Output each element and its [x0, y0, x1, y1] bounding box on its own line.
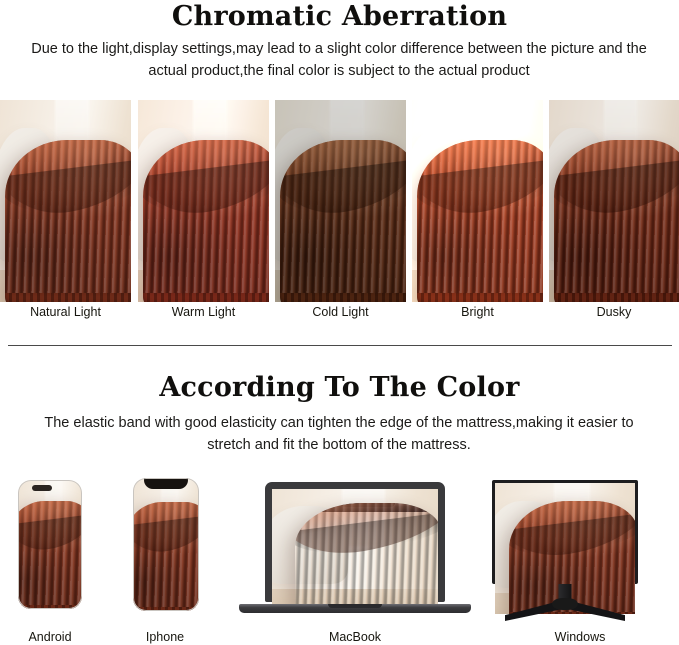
blanket-photo	[0, 100, 131, 302]
monitor-stand	[505, 600, 625, 622]
device-label-macbook: MacBook	[295, 630, 415, 644]
product-photo-warm-light	[138, 100, 269, 302]
product-photo-bright	[412, 100, 543, 302]
chromatic-subtitle: Due to the light,display settings,may le…	[29, 38, 649, 82]
product-photo-cold-light	[275, 100, 406, 302]
device-mockup-row	[0, 470, 679, 620]
variant-label-cold-light: Cold Light	[275, 305, 406, 319]
macbook-mockup	[265, 482, 445, 616]
product-photo-dusky	[549, 100, 679, 302]
macbook-screen	[272, 489, 438, 608]
color-section-title: According To The Color	[0, 372, 679, 403]
variant-label-dusky: Dusky	[549, 305, 679, 319]
macbook-base	[239, 604, 471, 613]
iphone-notch-icon	[144, 478, 188, 489]
chromatic-title: Chromatic Aberration	[0, 1, 679, 32]
iphone-screen	[133, 478, 199, 611]
device-labels: Android Iphone MacBook Windows	[0, 630, 679, 645]
android-camera-cutout-icon	[32, 485, 52, 491]
photo-blanket	[5, 140, 131, 302]
blanket-photo	[275, 100, 406, 302]
color-variant-labels: Natural Light Warm Light Cold Light Brig…	[0, 305, 679, 327]
device-label-windows: Windows	[525, 630, 635, 644]
blanket-photo	[549, 100, 679, 302]
device-label-android: Android	[10, 630, 90, 644]
android-phone-mockup	[18, 480, 82, 609]
product-infographic: Chromatic Aberration Due to the light,di…	[0, 0, 679, 645]
windows-monitor-mockup	[492, 480, 638, 622]
iphone-mockup	[133, 478, 199, 611]
variant-label-natural-light: Natural Light	[0, 305, 131, 319]
android-screen	[18, 480, 82, 609]
color-section-subtitle: The elastic band with good elasticity ca…	[29, 412, 649, 456]
color-variant-strip	[0, 100, 679, 302]
product-photo-natural-light	[0, 100, 131, 302]
section-divider	[8, 345, 672, 346]
variant-label-warm-light: Warm Light	[138, 305, 269, 319]
blanket-photo	[138, 100, 269, 302]
device-label-iphone: Iphone	[125, 630, 205, 644]
variant-label-bright: Bright	[412, 305, 543, 319]
blanket-photo	[412, 100, 543, 302]
